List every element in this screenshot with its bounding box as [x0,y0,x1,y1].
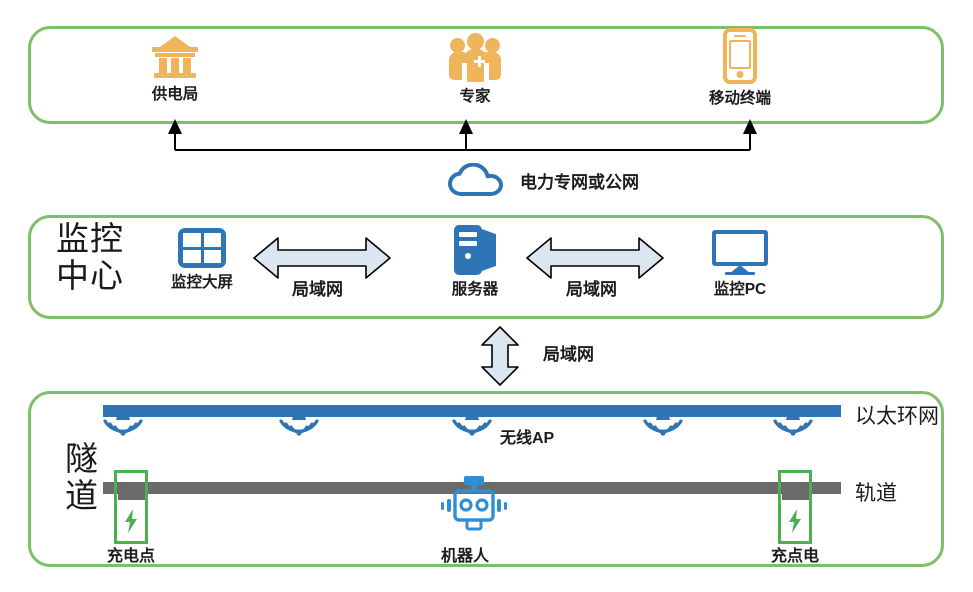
node-label-video-wall: 监控大屏 [171,270,233,292]
charging-point-right-label: 充点电 [755,542,835,566]
video-wall-icon [178,228,226,268]
lan-label-center-tunnel: 局域网 [543,340,594,365]
charging-bolt-icon [122,508,140,534]
robot-label: 机器人 [441,542,489,566]
node-label-power-bureau: 供电局 [152,82,199,104]
network-architecture-diagram: 供电局 专家 移动终端 [0,0,973,592]
monitoring-center-title: 监控 中心 [42,222,138,296]
bank-icon [152,34,198,80]
tunnel-title: 隧 道 [42,442,122,516]
node-label-mobile-terminal: 移动终端 [709,86,771,108]
rail-label: 轨道 [855,477,897,507]
phone-icon [723,28,757,84]
wireless-ap-icon [770,412,816,446]
wireless-ap-icon [100,412,146,446]
cloud-icon [448,163,504,197]
wireless-ap-label: 无线AP [500,424,554,448]
node-expert[interactable]: 专家 [415,32,535,106]
wireless-ap-icon [640,412,686,446]
charging-point-left[interactable] [114,470,148,544]
ethernet-ring-label: 以太环网 [855,400,939,430]
node-mobile-terminal[interactable]: 移动终端 [680,28,800,108]
wireless-ap-icon [276,412,322,446]
node-label-monitor-pc: 监控PC [714,277,767,299]
charging-point-left-label: 充电点 [91,542,171,566]
charging-point-right[interactable] [778,470,812,544]
wireless-ap-icon [449,412,495,446]
lan-label-screen-server: 局域网 [292,275,343,300]
node-label-expert: 专家 [459,84,490,106]
node-monitor-pc[interactable]: 监控PC [680,230,800,299]
robot-icon[interactable] [438,476,510,538]
charging-bolt-icon [786,508,804,534]
lan-label-server-pc: 局域网 [566,275,617,300]
server-icon [454,225,496,275]
node-video-wall[interactable]: 监控大屏 [142,228,262,292]
node-server[interactable]: 服务器 [415,225,535,299]
node-power-bureau[interactable]: 供电局 [115,34,235,104]
wan-link-label: 电力专网或公网 [520,168,639,193]
monitor-icon [712,230,768,275]
node-label-server: 服务器 [452,277,499,299]
wan-cloud-link: 电力专网或公网 [448,163,639,197]
lan-arrow-center-tunnel [478,325,522,392]
experts-icon [449,32,501,82]
